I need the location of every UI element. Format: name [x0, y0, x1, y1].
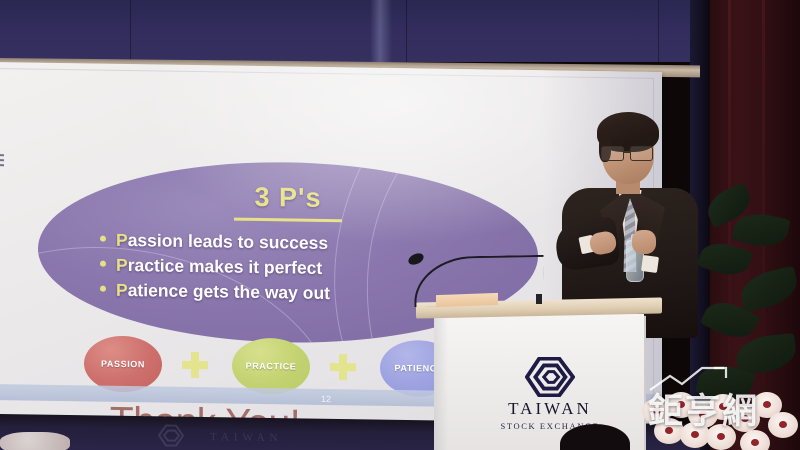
list-item: Practice makes it perfect [100, 255, 330, 279]
speaker-hand-right [632, 230, 656, 254]
bullet-text: atience gets the way out [128, 280, 330, 304]
speaker-cuff-right [641, 255, 659, 273]
bullet-capital: P [116, 255, 128, 276]
podium-logo-title: TAIWAN [460, 399, 640, 419]
slide-bullet-list: Passion leads to success Practice makes … [100, 230, 330, 308]
bullet-dot-icon [100, 236, 106, 242]
circle-practice: PRACTICE [232, 338, 310, 395]
wall-panel-seam [130, 0, 131, 62]
screenshot-stage: 3 P's Passion leads to success Practice … [0, 0, 800, 450]
back-wall [0, 0, 700, 62]
ghost-logo-text: TAIWAN [210, 431, 283, 444]
ghost-hex-logo-icon [158, 424, 184, 446]
twse-hex-logo-icon [460, 358, 640, 396]
circle-passion: PASSION [84, 335, 162, 392]
microphone-base [536, 294, 542, 304]
slide-title-underline [234, 218, 342, 222]
bullet-text: assion leads to success [128, 230, 328, 254]
bullet-capital: P [116, 280, 128, 301]
glasses-icon [600, 146, 656, 159]
wall-panel-seam [658, 0, 659, 62]
podium-logo: TAIWAN STOCK EXCHANGE [460, 358, 640, 431]
foreground-blur-object [0, 432, 70, 450]
bullet-dot-icon [100, 261, 106, 267]
slide-title: 3 P's [38, 179, 538, 217]
bullet-text: ractice makes it perfect [128, 255, 323, 279]
plus-icon [330, 354, 356, 380]
plus-icon [182, 352, 208, 378]
bullet-dot-icon [100, 286, 106, 292]
watermark-text: 鉅亨網 [648, 388, 796, 438]
bullet-capital: P [116, 230, 128, 251]
list-item: Passion leads to success [100, 230, 330, 254]
wall-panel-seam [406, 0, 407, 62]
slide-edge-glyph [0, 154, 6, 174]
podium: TAIWAN STOCK EXCHANGE [424, 300, 654, 450]
list-item: Patience gets the way out [100, 280, 330, 304]
